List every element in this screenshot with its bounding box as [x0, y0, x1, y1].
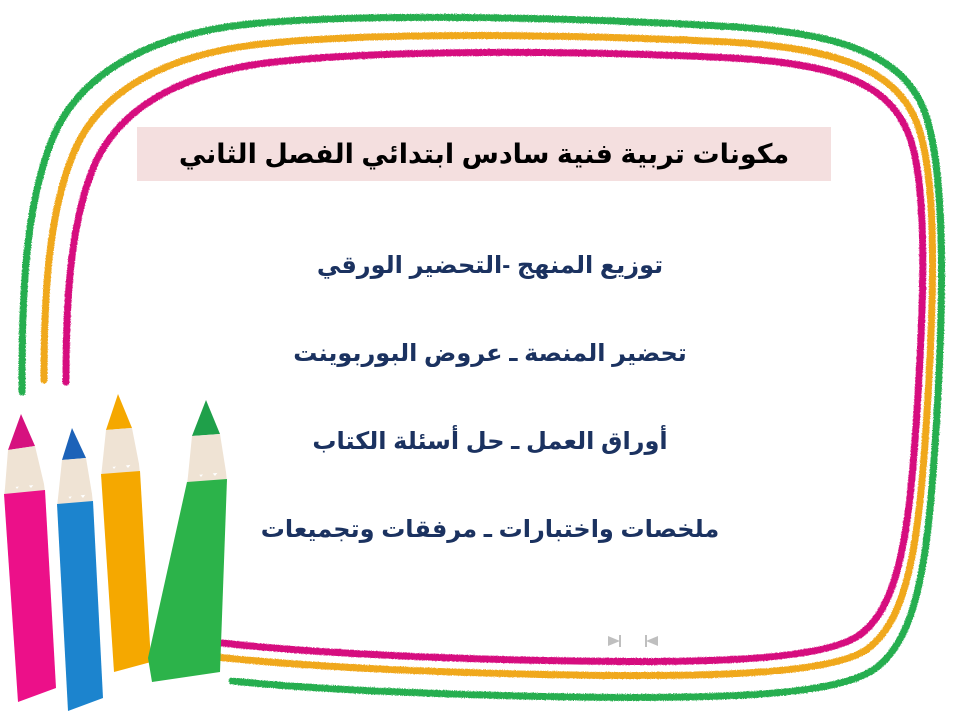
green-pencil-tip: [192, 400, 220, 436]
content-line-2: تحضير المنصة ـ عروض البوربوينت: [180, 334, 800, 422]
pink-pencil-tip: [8, 414, 35, 450]
orange-pencil-body: [101, 471, 151, 672]
blue-pencil-tip: [62, 428, 86, 460]
orange-pencil: [101, 394, 151, 672]
green-pencil-body: [148, 479, 227, 682]
content-line-3: أوراق العمل ـ حل أسئلة الكتاب: [180, 422, 800, 510]
content-list: توزيع المنهج -التحضير الورقي تحضير المنص…: [180, 246, 800, 598]
small-decorative-mark-left: [606, 634, 624, 648]
blue-pencil: [57, 428, 103, 711]
content-line-1: توزيع المنهج -التحضير الورقي: [180, 246, 800, 334]
title-banner: مكونات تربية فنية سادس ابتدائي الفصل الث…: [137, 127, 831, 181]
pink-pencil: [4, 414, 56, 702]
content-line-4: ملخصات واختبارات ـ مرفقات وتجميعات: [180, 510, 800, 598]
small-decorative-mark-right: [642, 634, 660, 648]
poster-canvas: مكونات تربية فنية سادس ابتدائي الفصل الث…: [0, 0, 960, 720]
blue-pencil-body: [57, 501, 103, 711]
pink-pencil-body: [4, 490, 56, 702]
page-title: مكونات تربية فنية سادس ابتدائي الفصل الث…: [179, 140, 789, 168]
orange-pencil-tip: [106, 394, 132, 430]
colored-pencils-illustration: [0, 376, 246, 720]
green-pencil: [148, 400, 227, 682]
